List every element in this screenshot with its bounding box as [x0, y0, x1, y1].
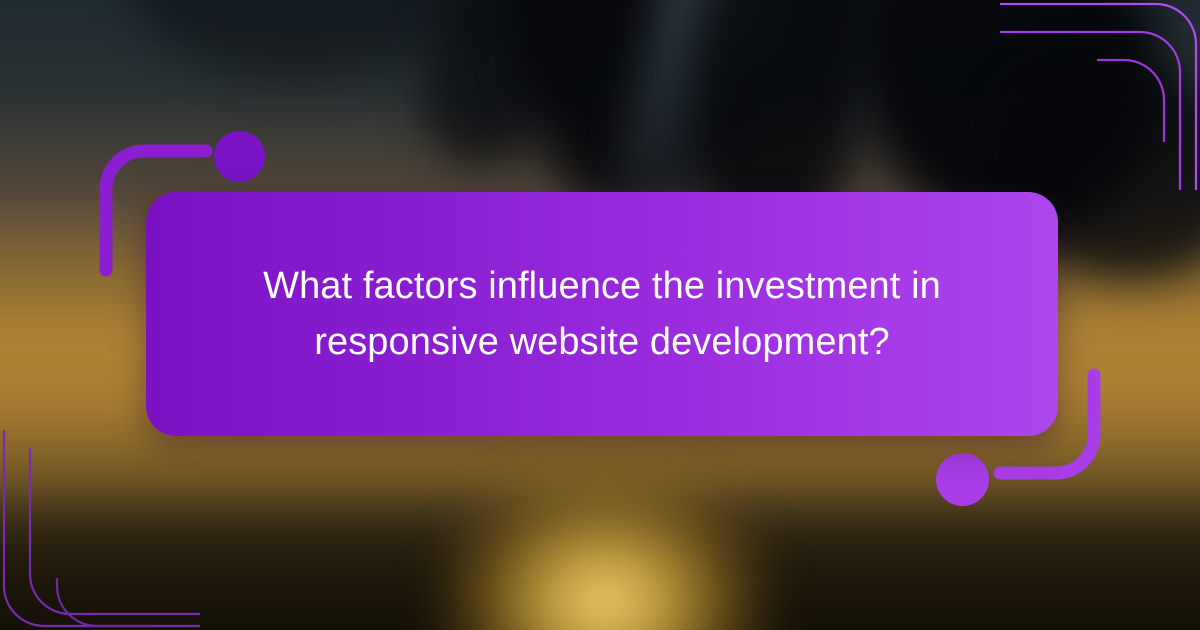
- poster-canvas: What factors influence the investment in…: [0, 0, 1200, 630]
- question-card: What factors influence the investment in…: [146, 192, 1058, 436]
- purple-dot-top-left-icon: [214, 131, 265, 182]
- purple-dot-bottom-right-icon: [936, 453, 989, 506]
- sun-reflection-glow: [440, 470, 770, 630]
- page-title: What factors influence the investment in…: [252, 258, 952, 370]
